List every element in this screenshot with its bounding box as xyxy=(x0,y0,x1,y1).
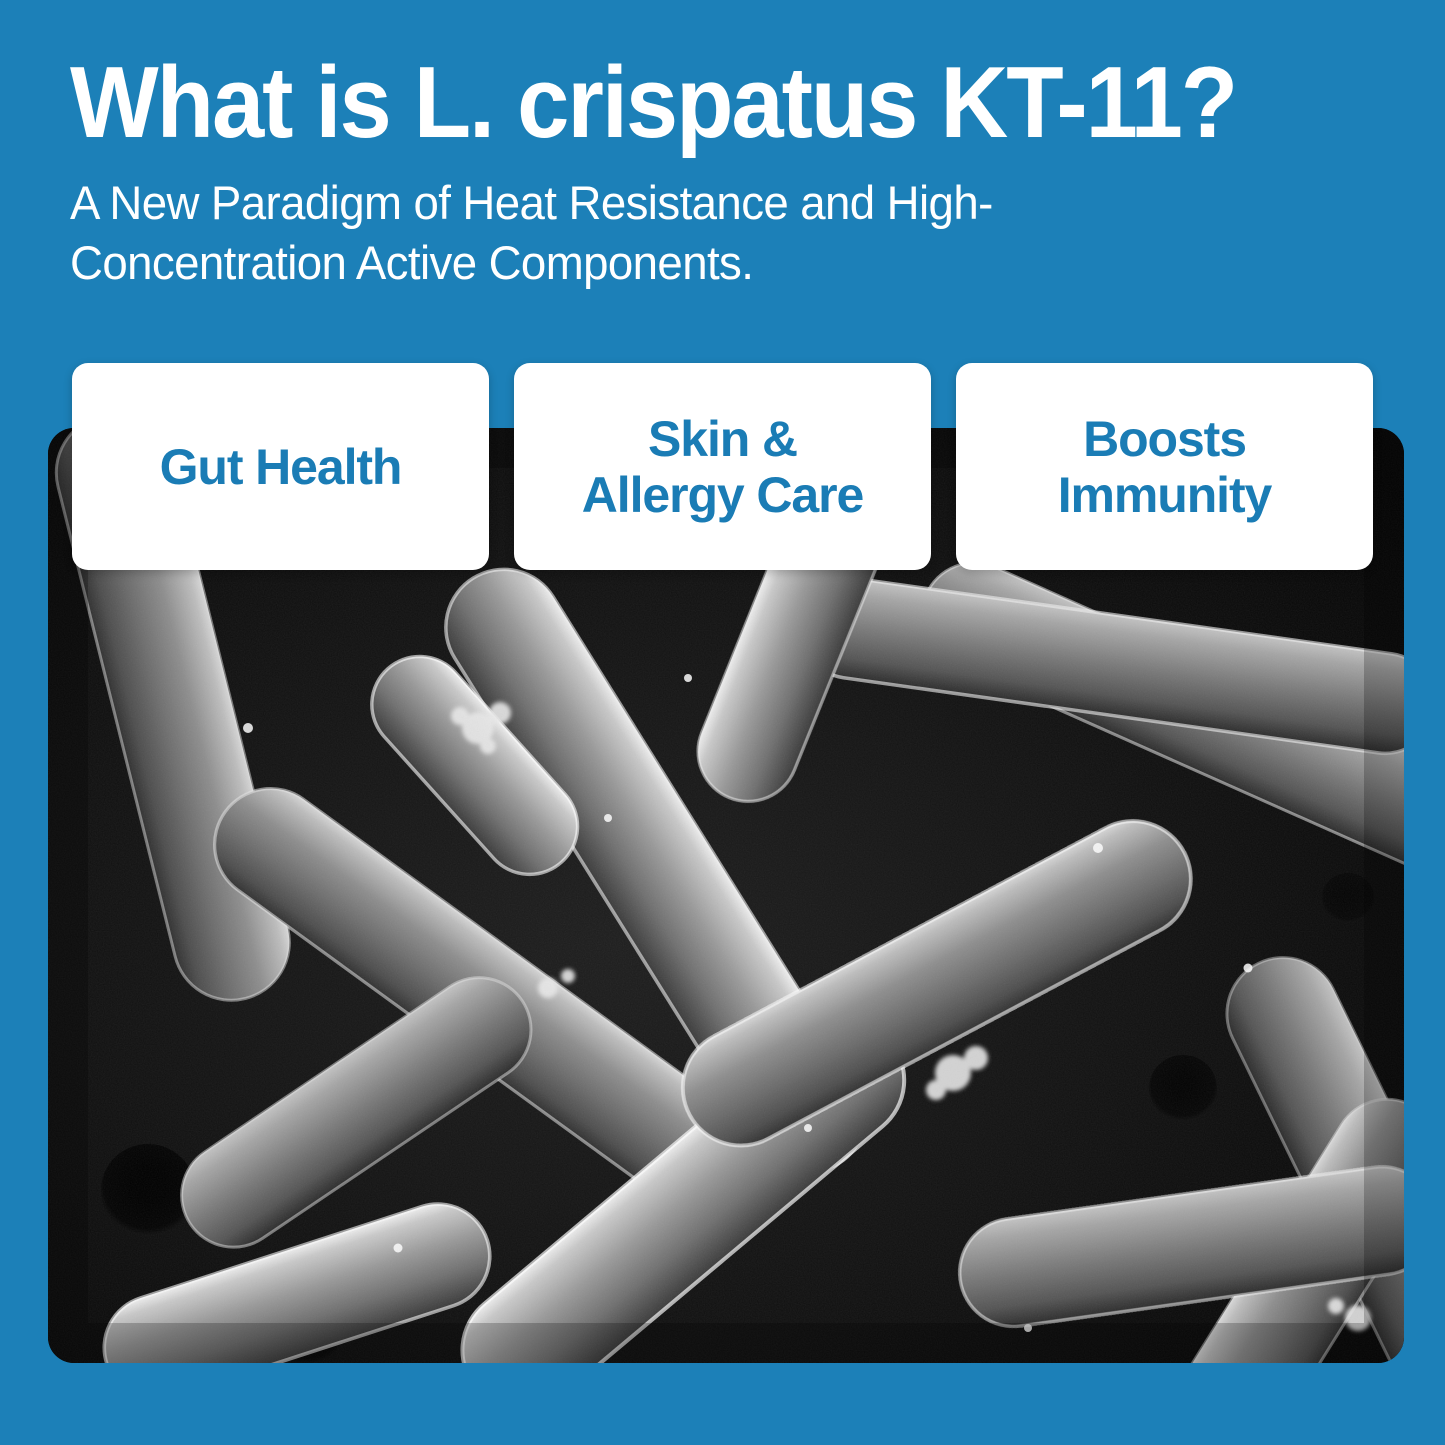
benefit-card-boosts-immunity[interactable]: Boosts Immunity xyxy=(956,363,1373,570)
page-subtitle: A New Paradigm of Heat Resistance and Hi… xyxy=(70,155,1040,293)
infographic-root: What is L. crispatus KT-11? A New Paradi… xyxy=(0,0,1445,1445)
benefit-cards-row: Gut Health Skin & Allergy Care Boosts Im… xyxy=(72,363,1373,570)
page-title: What is L. crispatus KT-11? xyxy=(70,52,1298,155)
benefit-card-label-skin-allergy-care: Skin & Allergy Care xyxy=(568,411,877,523)
benefit-card-skin-allergy-care[interactable]: Skin & Allergy Care xyxy=(514,363,931,570)
benefit-card-gut-health[interactable]: Gut Health xyxy=(72,363,489,570)
benefit-card-label-boosts-immunity: Boosts Immunity xyxy=(1044,411,1285,523)
header-block: What is L. crispatus KT-11? A New Paradi… xyxy=(70,52,1390,293)
benefit-card-label-gut-health: Gut Health xyxy=(146,439,416,495)
